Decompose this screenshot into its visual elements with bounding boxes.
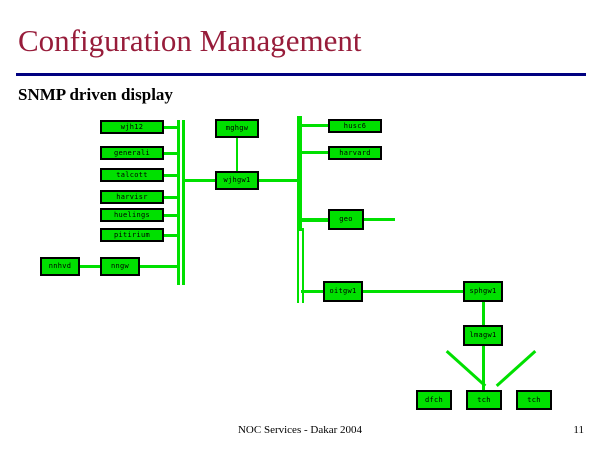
node-wjh12[interactable]: wjh12 bbox=[100, 120, 164, 134]
node-sphgw1[interactable]: sphgw1 bbox=[463, 281, 503, 302]
footer-caption: NOC Services - Dakar 2004 bbox=[0, 424, 600, 436]
node-nnhvd[interactable]: nnhvd bbox=[40, 257, 80, 276]
link-wjhgw1-trunk bbox=[258, 179, 302, 182]
link-huelings-bus bbox=[164, 214, 179, 217]
node-dfch[interactable]: dfch bbox=[416, 390, 452, 410]
node-label: tch bbox=[527, 397, 541, 404]
node-label: nngw bbox=[111, 263, 129, 270]
node-label: nnhvd bbox=[49, 263, 72, 270]
link-nnhvd-nngw bbox=[79, 265, 101, 268]
page-number: 11 bbox=[573, 424, 584, 436]
slide-subtitle: SNMP driven display bbox=[18, 85, 173, 105]
node-pitirium[interactable]: pitirium bbox=[100, 228, 164, 242]
link-trunk-husc6 bbox=[301, 124, 329, 127]
link-trunk-oitgw1 bbox=[301, 290, 324, 293]
node-label: mghgw bbox=[226, 125, 249, 132]
link-bus-wjhgw1 bbox=[184, 179, 217, 182]
link-sphgw1-lmagw1 bbox=[482, 301, 485, 326]
node-label: tch bbox=[477, 397, 491, 404]
right-trunk-line-lower-b bbox=[302, 228, 304, 303]
node-label: geo bbox=[339, 216, 353, 223]
left-bus-line-a bbox=[177, 120, 180, 285]
node-label: sphgw1 bbox=[469, 288, 496, 295]
node-nngw[interactable]: nngw bbox=[100, 257, 140, 276]
node-label: oitgw1 bbox=[329, 288, 356, 295]
link-trunk-geo bbox=[301, 218, 329, 222]
link-lmagw1-tch-1 bbox=[482, 346, 485, 391]
node-oitgw1[interactable]: oitgw1 bbox=[323, 281, 363, 302]
link-lmagw1-tch-2 bbox=[496, 350, 537, 387]
node-label: generali bbox=[114, 150, 150, 157]
node-lmagw1[interactable]: lmagw1 bbox=[463, 325, 503, 346]
node-geo[interactable]: geo bbox=[328, 209, 364, 230]
left-bus-line-b bbox=[182, 120, 185, 285]
node-talcott[interactable]: talcott bbox=[100, 168, 164, 182]
title-divider bbox=[16, 73, 586, 76]
node-label: talcott bbox=[116, 172, 148, 179]
node-label: harvard bbox=[339, 150, 371, 157]
link-trunk-harvard bbox=[301, 151, 329, 154]
node-huelings[interactable]: huelings bbox=[100, 208, 164, 222]
node-harvisr[interactable]: harvisr bbox=[100, 190, 164, 204]
link-geo-stub bbox=[363, 218, 395, 221]
link-mghgw-wjhgw1 bbox=[236, 137, 238, 172]
link-talcott-bus bbox=[164, 174, 179, 177]
link-oitgw1-sphgw1 bbox=[362, 290, 464, 293]
node-label: lmagw1 bbox=[469, 332, 496, 339]
node-harvard[interactable]: harvard bbox=[328, 146, 382, 160]
link-harvisr-bus bbox=[164, 196, 179, 199]
node-husc6[interactable]: husc6 bbox=[328, 119, 382, 133]
node-generali[interactable]: generali bbox=[100, 146, 164, 160]
snmp-network-diagram: wjh12 generali talcott harvisr huelings … bbox=[0, 0, 600, 450]
right-trunk-line bbox=[297, 116, 302, 231]
node-wjhgw1[interactable]: wjhgw1 bbox=[215, 171, 259, 190]
right-trunk-line-lower-a bbox=[297, 228, 299, 303]
link-wjh12-bus bbox=[164, 126, 179, 129]
node-label: huelings bbox=[114, 212, 150, 219]
node-label: wjhgw1 bbox=[223, 177, 250, 184]
node-label: pitirium bbox=[114, 232, 150, 239]
node-label: husc6 bbox=[344, 123, 367, 130]
link-pitirium-bus bbox=[164, 234, 179, 237]
node-mghgw[interactable]: mghgw bbox=[215, 119, 259, 138]
node-tch-2[interactable]: tch bbox=[516, 390, 552, 410]
link-generali-bus bbox=[164, 152, 179, 155]
node-label: harvisr bbox=[116, 194, 148, 201]
node-label: dfch bbox=[425, 397, 443, 404]
node-tch-1[interactable]: tch bbox=[466, 390, 502, 410]
node-label: wjh12 bbox=[121, 124, 144, 131]
link-lmagw1-dfch bbox=[446, 350, 487, 387]
page-title: Configuration Management bbox=[18, 24, 362, 58]
link-nngw-bus bbox=[139, 265, 179, 268]
